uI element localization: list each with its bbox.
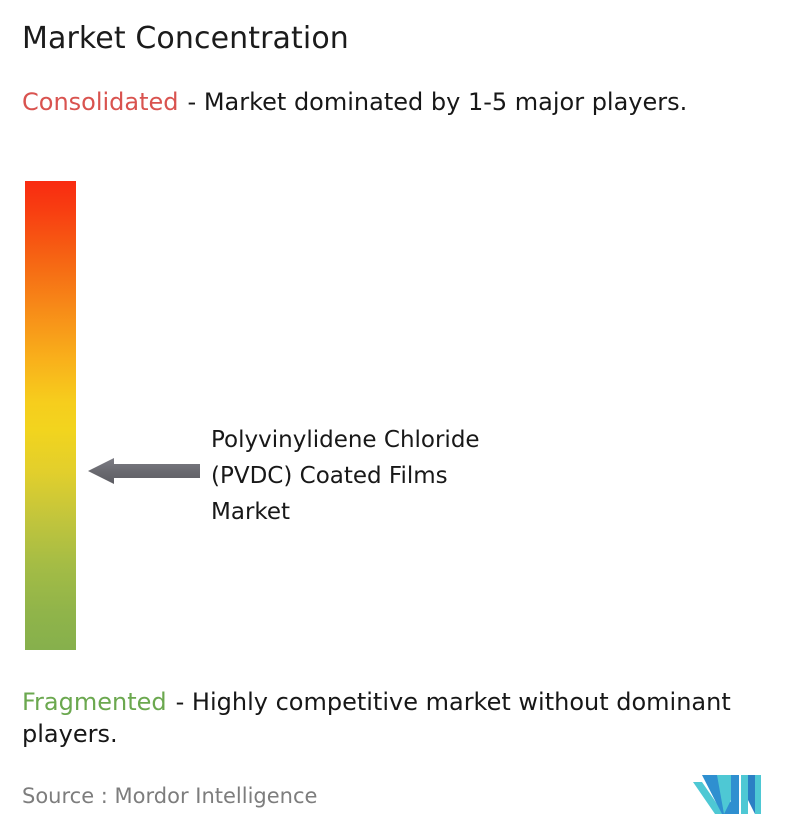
source-attribution: Source : Mordor Intelligence [22, 782, 317, 810]
market-position-arrow-icon [88, 455, 200, 487]
market-label: Polyvinylidene Chloride (PVDC) Coated Fi… [211, 422, 631, 530]
mordor-intelligence-logo-icon [693, 770, 765, 816]
market-label-line-2: (PVDC) Coated Films [211, 458, 631, 494]
market-label-line-1: Polyvinylidene Chloride [211, 422, 631, 458]
concentration-gradient-scale [25, 181, 76, 650]
legend-consolidated-description: - Market dominated by 1-5 major players. [188, 88, 688, 116]
legend-fragmented: Fragmented- Highly competitive market wi… [22, 686, 790, 750]
legend-consolidated-keyword: Consolidated [22, 88, 179, 116]
legend-consolidated: Consolidated- Market dominated by 1-5 ma… [22, 86, 770, 118]
market-concentration-infographic: Market Concentration Consolidated- Marke… [0, 0, 796, 834]
page-title: Market Concentration [22, 20, 349, 58]
legend-fragmented-keyword: Fragmented [22, 688, 167, 716]
market-label-line-3: Market [211, 494, 631, 530]
